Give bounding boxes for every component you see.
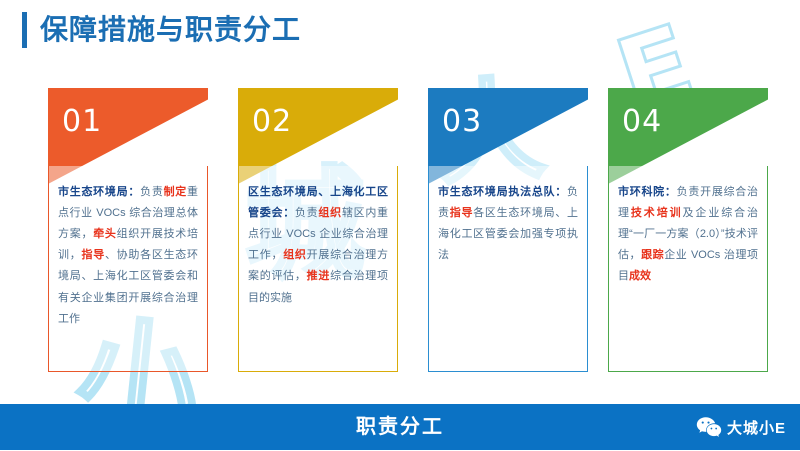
page-title: 保障措施与职责分工 — [40, 8, 301, 48]
card-text-04-5: 成效 — [629, 270, 651, 282]
card-body-01: 市生态环境局：负责制定重点行业 VOCs 综合治理总体方案，牵头组织开展技术培训… — [48, 166, 208, 372]
card-text-04-3: 跟踪 — [641, 249, 664, 261]
slide-header: 保障措施与职责分工 — [0, 0, 800, 62]
card-colon-03: ： — [555, 186, 567, 198]
card-number-02: 02 — [252, 104, 292, 139]
responsibility-card-04[interactable]: 04 市环科院：负责开展综合治理技术培训及企业综合治理“一厂一方案（2.0）”技… — [608, 88, 768, 378]
card-colon-01: ： — [128, 186, 140, 198]
responsibility-card-01[interactable]: 01 市生态环境局：负责制定重点行业 VOCs 综合治理总体方案，牵头组织开展技… — [48, 88, 208, 378]
responsibility-card-list: 01 市生态环境局：负责制定重点行业 VOCs 综合治理总体方案，牵头组织开展技… — [0, 88, 800, 380]
title-accent-bar — [22, 12, 27, 48]
card-number-04: 04 — [622, 104, 662, 139]
card-lead-03: 市生态环境局执法总队 — [438, 186, 555, 198]
card-text-02-0: 负责 — [295, 207, 318, 219]
card-number-03: 03 — [442, 104, 482, 139]
card-colon-04: ： — [665, 186, 677, 198]
card-text-04-1: 技术培训 — [631, 207, 683, 219]
responsibility-card-03[interactable]: 03 市生态环境局执法总队：负责指导各区生态环境局、上海化工区管委会加强专项执法 — [428, 88, 588, 378]
card-text-03-1: 指导 — [450, 207, 473, 219]
card-lead-04: 市环科院 — [618, 186, 665, 198]
card-text-02-5: 推进 — [307, 270, 330, 282]
slide-footer: 职责分工 大城小E — [0, 404, 800, 450]
brand-block[interactable]: 大城小E — [696, 404, 786, 450]
brand-name: 大城小E — [727, 417, 786, 438]
footer-title: 职责分工 — [0, 404, 800, 450]
card-body-02: 区生态环境局、上海化工区管委会：负责组织辖区内重点行业 VOCs 企业综合治理工… — [238, 166, 398, 372]
card-text-02-1: 组织 — [318, 207, 341, 219]
card-text-01-5: 指导 — [81, 249, 104, 261]
card-number-01: 01 — [62, 104, 102, 139]
card-text-01-3: 牵头 — [93, 228, 116, 240]
card-colon-02: ： — [283, 207, 295, 219]
wechat-icon — [696, 416, 722, 438]
card-body-04: 市环科院：负责开展综合治理技术培训及企业综合治理“一厂一方案（2.0）”技术评估… — [608, 166, 768, 372]
card-text-01-0: 负责 — [140, 186, 163, 198]
card-text-01-1: 制定 — [164, 186, 187, 198]
card-body-03: 市生态环境局执法总队：负责指导各区生态环境局、上海化工区管委会加强专项执法 — [428, 166, 588, 372]
responsibility-card-02[interactable]: 02 区生态环境局、上海化工区管委会：负责组织辖区内重点行业 VOCs 企业综合… — [238, 88, 398, 378]
card-lead-01: 市生态环境局 — [58, 186, 128, 198]
card-text-02-3: 组织 — [283, 249, 306, 261]
